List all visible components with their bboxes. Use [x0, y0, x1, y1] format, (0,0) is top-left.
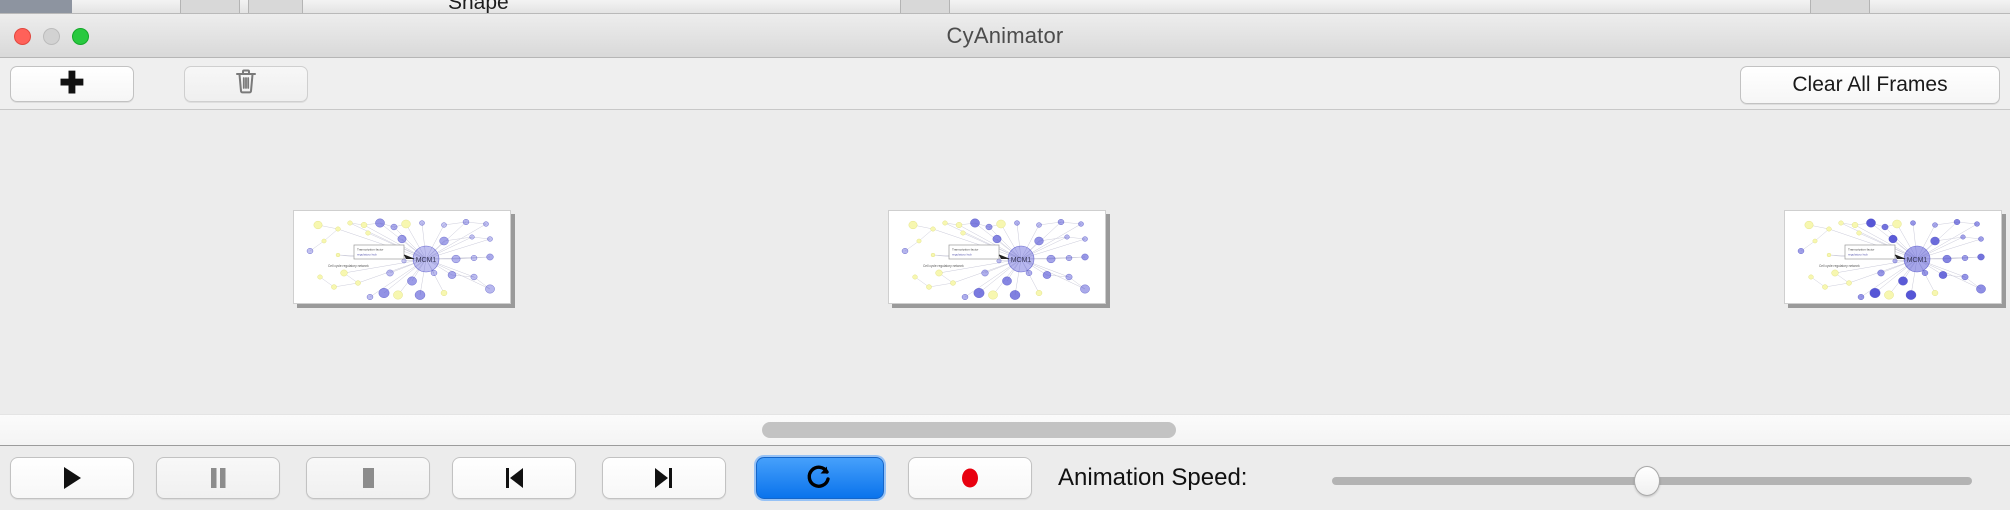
frame-canvas: MCM1Transcription factorregulatory hubCe… — [888, 210, 1106, 304]
stop-icon — [356, 464, 380, 492]
cyanimator-window: Shape CyAnimator ✚ Clear — [0, 0, 2010, 510]
frame-toolbar: ✚ Clear All Frames — [0, 58, 2010, 110]
background-window-sidebar — [0, 0, 72, 14]
skip-back-icon — [501, 464, 527, 492]
timeline-scrollbar-track[interactable] — [0, 414, 2010, 446]
delete-frame-button[interactable] — [184, 66, 308, 102]
record-icon — [957, 464, 983, 492]
svg-text:Cell cycle regulatory network: Cell cycle regulatory network — [328, 264, 369, 268]
animation-speed-slider-thumb[interactable] — [1634, 466, 1660, 496]
svg-text:regulatory hub: regulatory hub — [357, 253, 377, 257]
svg-text:regulatory hub: regulatory hub — [952, 253, 972, 257]
svg-text:Cell cycle regulatory network: Cell cycle regulatory network — [1819, 264, 1860, 268]
svg-text:Transcription factor: Transcription factor — [952, 248, 978, 252]
add-frame-button[interactable]: ✚ — [10, 66, 134, 102]
skip-start-button[interactable] — [452, 457, 576, 499]
animation-speed-label: Animation Speed: — [1058, 457, 1247, 499]
timeline-panel[interactable]: MCM1Transcription factorregulatory hubCe… — [0, 110, 2010, 414]
loop-icon — [806, 463, 834, 493]
timeline-frame-thumbnail[interactable]: MCM1Transcription factorregulatory hubCe… — [1784, 210, 2006, 308]
playback-control-bar: Animation Speed: — [0, 447, 2010, 510]
svg-text:Transcription factor: Transcription factor — [357, 248, 383, 252]
plus-icon: ✚ — [59, 69, 84, 99]
background-window-label: Shape — [448, 0, 509, 14]
svg-text:MCM1: MCM1 — [1907, 257, 1928, 264]
trash-icon — [234, 68, 258, 100]
clear-all-frames-button[interactable]: Clear All Frames — [1740, 66, 2000, 104]
pause-button[interactable] — [156, 457, 280, 499]
frame-canvas: MCM1Transcription factorregulatory hubCe… — [293, 210, 511, 304]
pause-icon — [206, 464, 230, 492]
titlebar: CyAnimator — [0, 14, 2010, 58]
svg-text:regulatory hub: regulatory hub — [1848, 253, 1868, 257]
svg-text:Cell cycle regulatory network: Cell cycle regulatory network — [923, 264, 964, 268]
play-button[interactable] — [10, 457, 134, 499]
play-icon — [59, 464, 85, 492]
background-window-strip: Shape — [0, 0, 2010, 14]
background-window-tab-2 — [248, 0, 303, 14]
svg-text:MCM1: MCM1 — [416, 257, 437, 264]
background-window-tab-4 — [1810, 0, 1870, 14]
timeline-frame-thumbnail[interactable]: MCM1Transcription factorregulatory hubCe… — [888, 210, 1110, 308]
stop-button[interactable] — [306, 457, 430, 499]
background-window-tab-1 — [180, 0, 240, 14]
loop-button[interactable] — [756, 457, 884, 499]
clear-all-frames-label: Clear All Frames — [1792, 73, 1947, 97]
timeline-frame-thumbnail[interactable]: MCM1Transcription factorregulatory hubCe… — [293, 210, 515, 308]
record-button[interactable] — [908, 457, 1032, 499]
timeline-scrollbar-thumb[interactable] — [762, 422, 1176, 438]
svg-text:Transcription factor: Transcription factor — [1848, 248, 1874, 252]
frame-canvas: MCM1Transcription factorregulatory hubCe… — [1784, 210, 2002, 304]
background-window-tab-3 — [900, 0, 950, 14]
skip-forward-icon — [651, 464, 677, 492]
skip-end-button[interactable] — [602, 457, 726, 499]
window-title: CyAnimator — [0, 14, 2010, 58]
svg-text:MCM1: MCM1 — [1011, 257, 1032, 264]
